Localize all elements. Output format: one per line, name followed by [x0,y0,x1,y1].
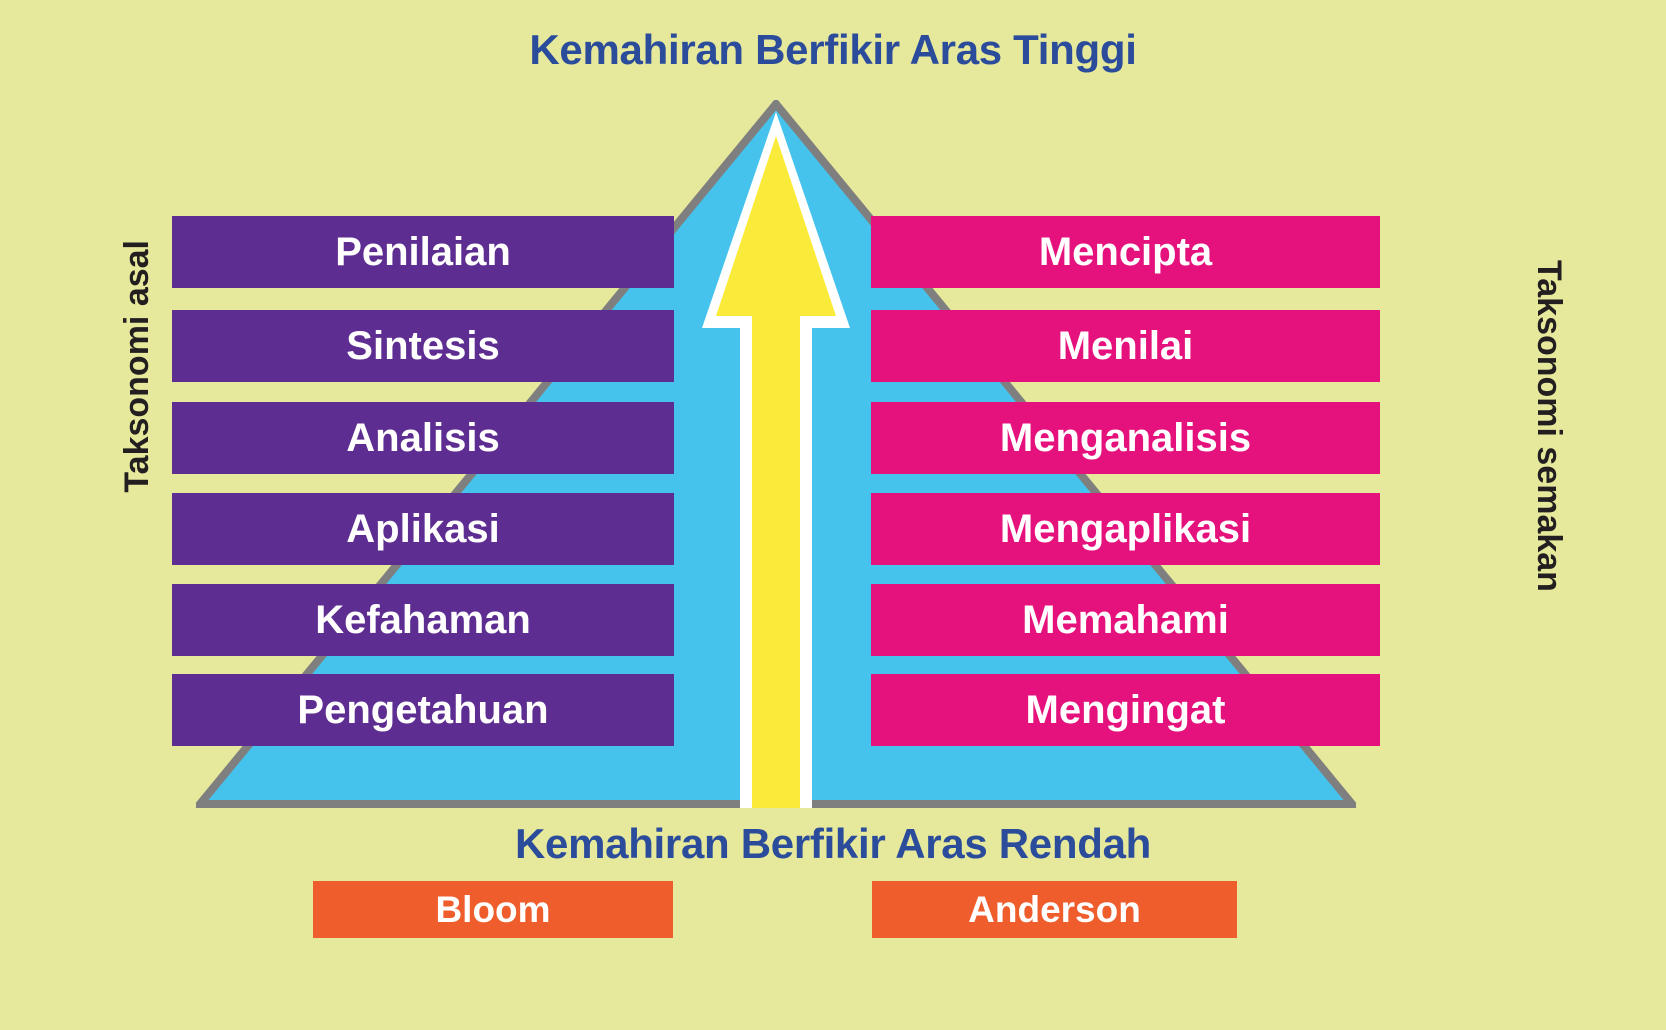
level-label: Analisis [346,418,499,458]
legend-button-bloom[interactable]: Bloom [313,881,673,938]
level-bar-right-2[interactable]: Menilai [871,310,1380,382]
level-bar-right-1[interactable]: Mencipta [871,216,1380,288]
level-bar-left-5[interactable]: Kefahaman [172,584,674,656]
level-label: Penilaian [335,232,511,272]
level-label: Sintesis [346,326,499,366]
level-label: Mengingat [1026,690,1226,730]
level-label: Mencipta [1039,232,1212,272]
page-title-higher-order: Kemahiran Berfikir Aras Tinggi [0,26,1666,74]
axis-label-revised-taxonomy: Taksonomi semakan [1529,260,1568,680]
level-bar-left-3[interactable]: Analisis [172,402,674,474]
page-title-lower-order: Kemahiran Berfikir Aras Rendah [0,820,1666,868]
level-label: Menganalisis [1000,418,1251,458]
level-label: Menilai [1058,326,1194,366]
level-label: Memahami [1022,600,1229,640]
level-bar-right-4[interactable]: Mengaplikasi [871,493,1380,565]
level-bar-right-3[interactable]: Menganalisis [871,402,1380,474]
level-label: Aplikasi [346,509,499,549]
level-label: Mengaplikasi [1000,509,1251,549]
level-label: Kefahaman [315,600,531,640]
level-bar-left-2[interactable]: Sintesis [172,310,674,382]
level-bar-right-6[interactable]: Mengingat [871,674,1380,746]
level-bar-left-4[interactable]: Aplikasi [172,493,674,565]
level-bar-left-6[interactable]: Pengetahuan [172,674,674,746]
level-bar-right-5[interactable]: Memahami [871,584,1380,656]
legend-button-anderson[interactable]: Anderson [872,881,1237,938]
level-bar-left-1[interactable]: Penilaian [172,216,674,288]
bloom-taxonomy-diagram: Kemahiran Berfikir Aras Tinggi Penilaian… [0,0,1666,1030]
level-label: Pengetahuan [297,690,548,730]
axis-label-original-taxonomy: Taksonomi asal [118,240,157,660]
